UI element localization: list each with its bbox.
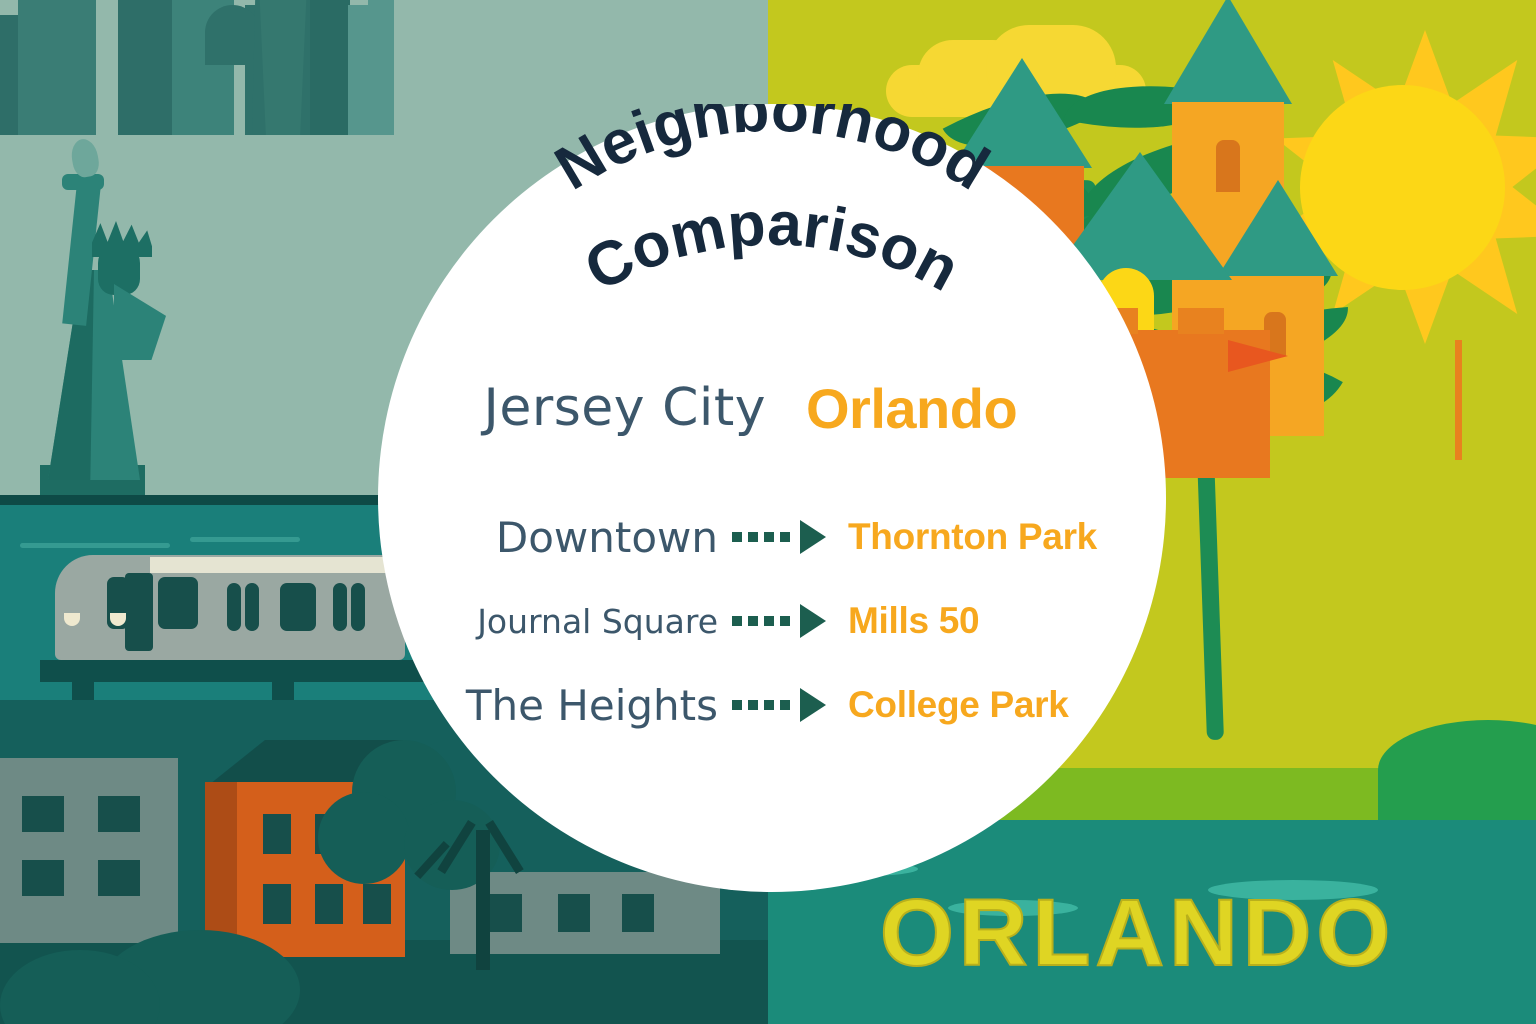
building-window xyxy=(315,884,343,924)
building-window xyxy=(98,860,140,896)
jc-neighborhood-label: Journal Square xyxy=(378,602,732,641)
jc-building xyxy=(348,5,384,135)
dotted-arrow-icon xyxy=(732,520,832,554)
card-header-row: Jersey City Orlando xyxy=(378,372,1166,444)
header-jersey-city: Jersey City xyxy=(378,378,784,438)
building-window xyxy=(363,884,391,924)
arrow-head-icon xyxy=(800,520,826,554)
arrow-head-icon xyxy=(800,604,826,638)
orlando-neighborhood-label: College Park xyxy=(832,684,1069,726)
building-window xyxy=(490,894,522,932)
arrow-dot xyxy=(780,616,790,626)
arrow-dot xyxy=(732,616,742,626)
orlando-neighborhood-label: Mills 50 xyxy=(832,600,979,642)
jc-neighborhood-label: The Heights xyxy=(378,681,732,730)
path-train xyxy=(55,555,405,675)
arrow-dot xyxy=(732,532,742,542)
jc-neighborhood-label: Downtown xyxy=(378,513,732,562)
arrow-dot xyxy=(764,616,774,626)
jc-building xyxy=(205,5,260,65)
water-ripple xyxy=(20,543,170,548)
castle-flagpole xyxy=(1455,340,1462,460)
orlando-hill xyxy=(1378,720,1536,820)
building-window xyxy=(98,796,140,832)
header-orlando: Orlando xyxy=(784,376,1166,441)
train-door xyxy=(125,573,153,651)
water-ripple xyxy=(190,537,300,542)
comparison-row: Journal Square Mills 50 xyxy=(378,579,1166,663)
train-window xyxy=(245,583,259,631)
arrow-dot xyxy=(764,700,774,710)
building-window xyxy=(22,796,64,832)
statue-of-liberty xyxy=(10,105,230,520)
building-window xyxy=(22,860,64,896)
jc-grey-building xyxy=(0,758,178,943)
comparison-rows: Downtown Thornton Park Journal Square Mi… xyxy=(378,495,1166,747)
train-window xyxy=(333,583,347,631)
arrow-dot xyxy=(764,532,774,542)
dotted-arrow-icon xyxy=(732,604,832,638)
arrow-dot xyxy=(780,700,790,710)
arrow-head-icon xyxy=(800,688,826,722)
building-window xyxy=(263,884,291,924)
comparison-row: Downtown Thornton Park xyxy=(378,495,1166,579)
castle-flag xyxy=(1228,340,1288,372)
arrow-dot xyxy=(732,700,742,710)
train-window xyxy=(158,577,198,629)
building-window xyxy=(558,894,590,932)
arrow-dot xyxy=(748,700,758,710)
castle-merlon xyxy=(1178,308,1224,334)
train-window xyxy=(227,583,241,631)
arrow-dot xyxy=(748,532,758,542)
poster-canvas: ORLANDO Neighborhood Comparison Jersey C… xyxy=(0,0,1536,1024)
orlando-wordmark: ORLANDO xyxy=(880,886,1395,981)
tree-trunk xyxy=(476,830,490,970)
castle-roof xyxy=(1164,0,1292,104)
arrow-dot xyxy=(748,616,758,626)
dotted-arrow-icon xyxy=(732,688,832,722)
building-window xyxy=(263,814,291,854)
jc-flat-building xyxy=(450,872,720,954)
jc-building xyxy=(310,0,350,135)
train-window xyxy=(351,583,365,631)
comparison-row: The Heights College Park xyxy=(378,663,1166,747)
arrow-dot xyxy=(780,532,790,542)
orlando-neighborhood-label: Thornton Park xyxy=(832,516,1097,558)
liberty-shoulder xyxy=(114,284,166,360)
liberty-flame xyxy=(69,137,101,179)
train-roofline xyxy=(150,557,405,573)
tree-foliage xyxy=(318,792,410,884)
castle-roof xyxy=(1218,180,1338,276)
building-window xyxy=(622,894,654,932)
liberty-crown-spike xyxy=(92,221,152,257)
train-window xyxy=(280,583,316,631)
